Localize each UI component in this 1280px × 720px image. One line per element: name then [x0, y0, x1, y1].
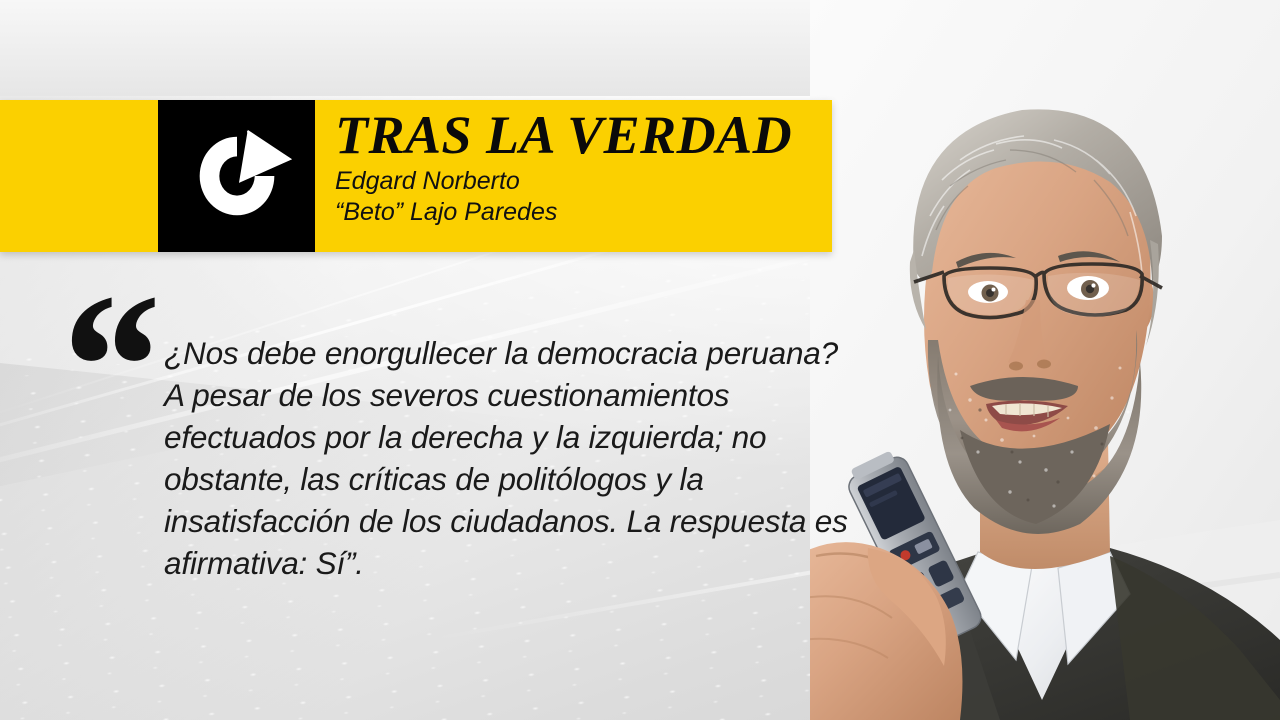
- page-title: TRAS LA VERDAD: [335, 104, 835, 166]
- author-name-line1: Edgard Norberto: [335, 166, 835, 197]
- graphic-canvas: TRAS LA VERDAD Edgard Norberto “Beto” La…: [0, 0, 1280, 720]
- author-name-line2: “Beto” Lajo Paredes: [335, 197, 835, 228]
- logo-box: [158, 100, 315, 252]
- quote-text: ¿Nos debe enorgullecer la democracia per…: [164, 332, 854, 584]
- circular-arrow-logo-icon: [178, 120, 296, 232]
- portrait-illustration: [810, 0, 1280, 720]
- background-top-strip: [0, 0, 860, 96]
- header-text-block: TRAS LA VERDAD Edgard Norberto “Beto” La…: [335, 104, 835, 228]
- open-quote-glyph: “: [52, 262, 157, 472]
- portrait-photo: [810, 0, 1280, 720]
